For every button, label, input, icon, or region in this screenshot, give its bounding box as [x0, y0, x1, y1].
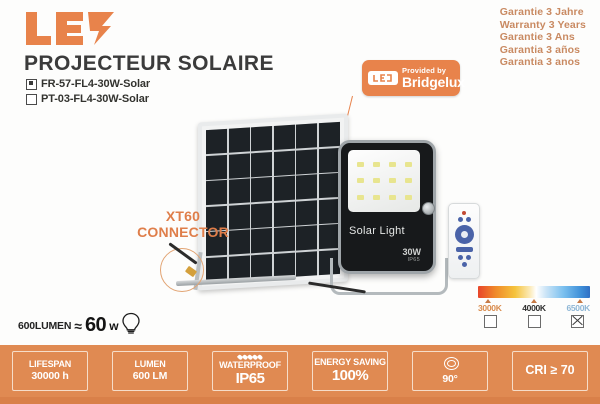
- solar-panel: [198, 118, 348, 286]
- xt60-callout-line1: XT60: [128, 208, 238, 224]
- feature-title: ENERGY SAVING: [314, 358, 386, 367]
- cct-checkbox-row: [478, 315, 590, 328]
- solar-cell-grid: [206, 122, 340, 282]
- led-chip-icon: [368, 71, 398, 85]
- model-label: FR-57-FL4-30W-Solar: [41, 78, 150, 90]
- remote-button: [466, 217, 471, 222]
- led-wordmark-icon: [22, 8, 122, 48]
- solar-panel-frame: [198, 113, 348, 290]
- checkbox-icon[interactable]: [26, 94, 37, 105]
- cct-checkbox-3000k[interactable]: [484, 315, 497, 328]
- warranty-block: Garantie 3 Jahre Warranty 3 Years Garant…: [500, 6, 586, 69]
- cct-labels: 3000K 4000K 6500K: [478, 303, 590, 313]
- cct-gradient-bar: [478, 286, 590, 298]
- floodlight-wattage-label: 30W: [402, 247, 421, 257]
- bridgelux-provided-label: Provided by: [402, 67, 465, 75]
- model-list: FR-57-FL4-30W-Solar PT-03-FL4-30W-Solar: [26, 78, 150, 108]
- feature-lumen: LUMEN 600 LM: [112, 351, 188, 391]
- floodlight-tilt-knob: [422, 202, 435, 215]
- remote-button: [462, 262, 467, 267]
- beam-angle-icon: [442, 357, 459, 370]
- xt60-callout-line2: CONNECTOR: [128, 224, 238, 240]
- remote-power-button: [462, 211, 466, 215]
- floodlight-lens: [348, 150, 420, 212]
- equivalent-watt-value: 60: [85, 314, 106, 337]
- feature-value: 100%: [332, 368, 368, 384]
- color-temperature-selector: 3000K 4000K 6500K: [478, 286, 590, 328]
- bridgelux-badge: Provided by Bridgelux: [362, 60, 460, 96]
- banner-bottom-strip: [0, 397, 600, 404]
- feature-title: WATERPROOF: [219, 361, 281, 370]
- product-datasheet: PROJECTEUR SOLAIRE FR-57-FL4-30W-Solar P…: [0, 0, 600, 404]
- remote-mid-row: [449, 255, 479, 260]
- floodlight-product-image: Solar Light 30W IP65: [338, 140, 436, 274]
- feature-title: LUMEN: [135, 360, 166, 369]
- warranty-line-pt: Garantia 3 anos: [500, 56, 586, 69]
- feature-cri: CRI ≥ 70: [512, 351, 588, 391]
- bulb-icon: [121, 312, 141, 339]
- remote-mode-button: [456, 247, 473, 252]
- remote-button: [466, 255, 471, 260]
- model-option-pt03[interactable]: PT-03-FL4-30W-Solar: [26, 93, 150, 105]
- feature-value: CRI ≥ 70: [525, 364, 574, 377]
- lumen-value-label: 600LUMEN: [18, 320, 71, 332]
- page-title: PROJECTEUR SOLAIRE: [24, 52, 274, 76]
- cct-checkbox-4000k[interactable]: [528, 315, 541, 328]
- floodlight-name-label: Solar Light: [349, 225, 405, 237]
- feature-title: LIFESPAN: [29, 360, 71, 369]
- checkbox-icon[interactable]: [26, 79, 37, 90]
- brand-logo: [22, 8, 122, 48]
- warranty-line-de: Garantie 3 Jahre: [500, 6, 586, 19]
- feature-value: 90°: [442, 374, 457, 385]
- lumen-equivalence: 600LUMEN ≈ 60 w: [18, 312, 141, 339]
- remote-bottom-row: [449, 262, 479, 267]
- cct-label-3000k: 3000K: [478, 303, 502, 313]
- feature-energy-saving: ENERGY SAVING 100%: [312, 351, 388, 391]
- feature-waterproof: WATERPROOF IP65: [212, 351, 288, 391]
- warranty-line-es: Garantia 3 años: [500, 44, 586, 57]
- cct-label-6500k: 6500K: [566, 303, 590, 313]
- feature-beam-angle: 90°: [412, 351, 488, 391]
- warranty-line-fr: Garantie 3 Ans: [500, 31, 586, 44]
- remote-control: [448, 203, 480, 279]
- equivalent-watt-unit: w: [109, 319, 118, 333]
- feature-value: 600 LM: [133, 371, 167, 382]
- feature-banner: LIFESPAN 30000 h LUMEN 600 LM WATERPROOF…: [0, 345, 600, 397]
- warranty-line-en: Warranty 3 Years: [500, 19, 586, 32]
- model-option-fr57[interactable]: FR-57-FL4-30W-Solar: [26, 78, 150, 90]
- model-label: PT-03-FL4-30W-Solar: [41, 93, 149, 105]
- remote-button: [458, 217, 463, 222]
- cct-label-4000k: 4000K: [522, 303, 546, 313]
- remote-power-row: [449, 211, 479, 215]
- bridgelux-name: Bridgelux: [402, 75, 465, 89]
- xt60-callout: XT60 CONNECTOR: [128, 208, 238, 240]
- remote-dial-pad: [455, 225, 474, 244]
- cct-checkbox-6500k[interactable]: [571, 315, 584, 328]
- feature-lifespan: LIFESPAN 30000 h: [12, 351, 88, 391]
- remote-top-row: [449, 217, 479, 222]
- water-drops-icon: [238, 355, 262, 360]
- approx-sign: ≈: [74, 318, 82, 334]
- feature-value: 30000 h: [31, 371, 68, 382]
- feature-value: IP65: [236, 371, 265, 387]
- remote-button: [458, 255, 463, 260]
